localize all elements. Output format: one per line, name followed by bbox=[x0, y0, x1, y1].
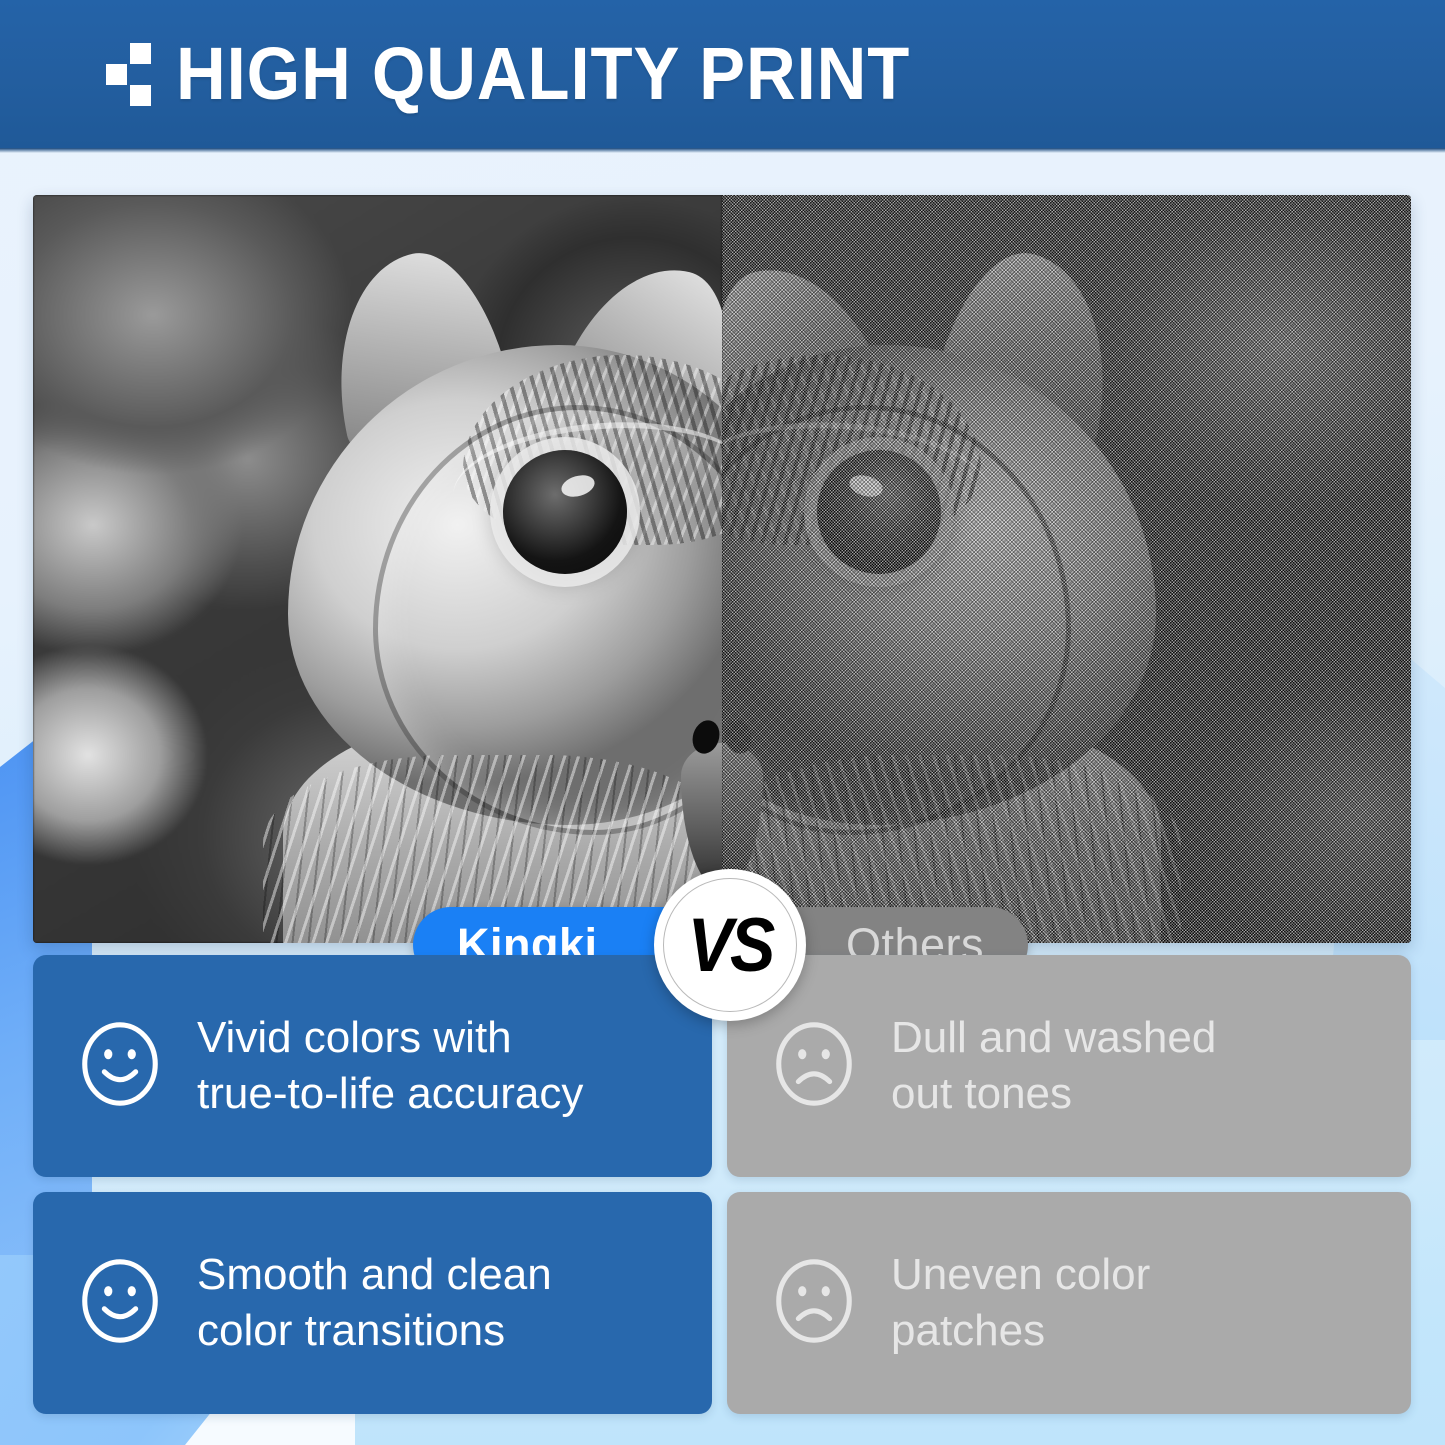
sad-face-icon bbox=[767, 1254, 861, 1353]
header-banner: HIGH QUALITY PRINT bbox=[0, 0, 1445, 148]
feature-card-good-1: Vivid colors with true-to-life accuracy bbox=[33, 955, 712, 1177]
three-square-blocks-logo-icon bbox=[106, 41, 154, 107]
owl-comparison-photo bbox=[33, 195, 1411, 943]
feature-card-text: Dull and washed out tones bbox=[891, 1010, 1216, 1123]
feature-card-bad-2: Uneven color patches bbox=[727, 1192, 1411, 1414]
photo-half-others bbox=[722, 195, 1411, 943]
header-underline bbox=[0, 148, 1445, 153]
vs-badge-label: VS bbox=[688, 901, 773, 988]
photo-grain-overlay-2 bbox=[722, 195, 1411, 943]
photo-split-seam bbox=[722, 195, 723, 943]
feature-card-bad-1: Dull and washed out tones bbox=[727, 955, 1411, 1177]
feature-card-text: Uneven color patches bbox=[891, 1247, 1150, 1360]
vs-badge: VS bbox=[654, 869, 806, 1021]
page-title: HIGH QUALITY PRINT bbox=[176, 37, 910, 111]
smiley-face-icon bbox=[73, 1017, 167, 1116]
feature-card-text: Smooth and clean color transitions bbox=[197, 1247, 552, 1360]
feature-card-text: Vivid colors with true-to-life accuracy bbox=[197, 1010, 583, 1123]
owl-left bbox=[33, 195, 722, 943]
feature-card-good-2: Smooth and clean color transitions bbox=[33, 1192, 712, 1414]
smiley-face-icon bbox=[73, 1254, 167, 1353]
sad-face-icon bbox=[767, 1017, 861, 1116]
product-comparison-infographic: HIGH QUALITY PRINT bbox=[0, 0, 1445, 1445]
photo-half-kingkj bbox=[33, 195, 722, 943]
owl-eye bbox=[503, 450, 627, 574]
